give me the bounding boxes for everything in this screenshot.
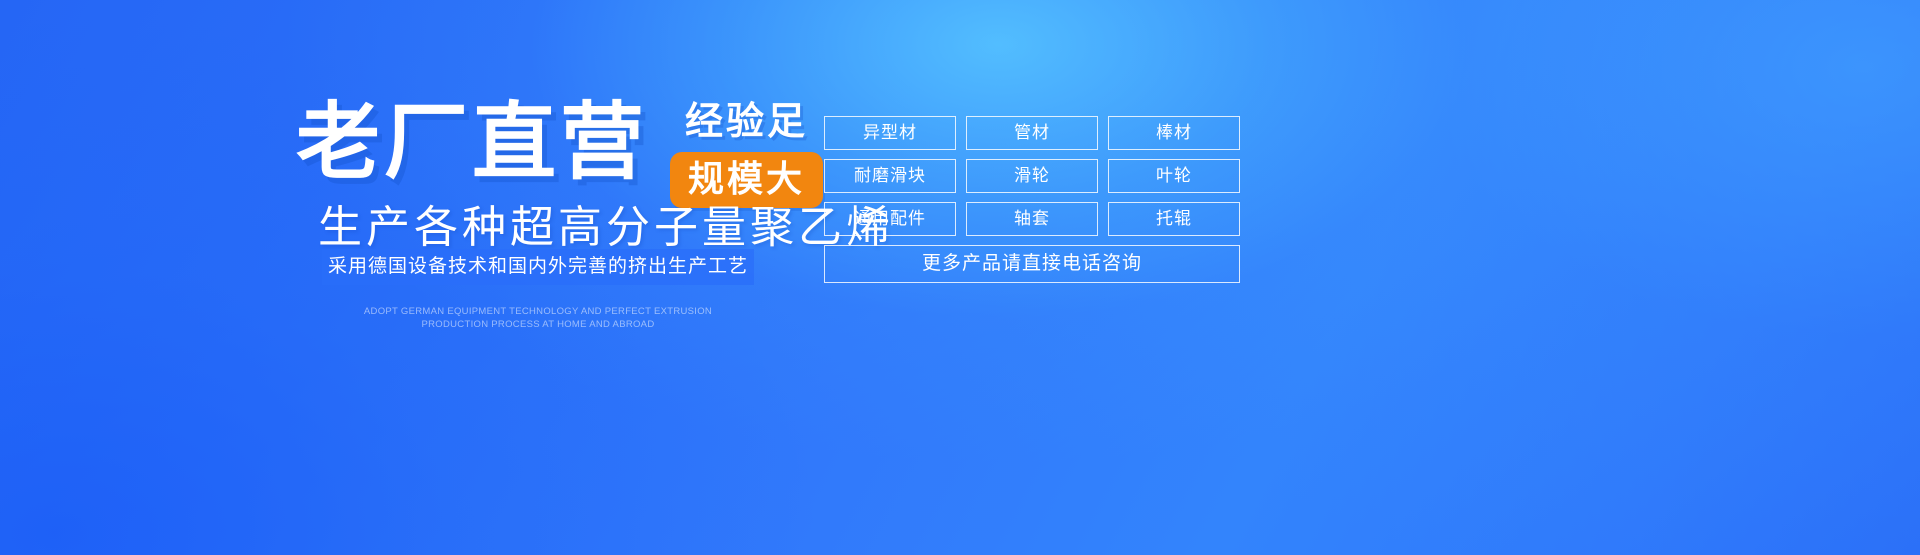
english-caption-line-2: PRODUCTION PROCESS AT HOME AND ABROAD [322, 318, 754, 331]
more-products-call-label: 更多产品请直接电话咨询 [922, 253, 1142, 275]
tagline-text: 采用德国设备技术和国内外完善的挤出生产工艺 [328, 256, 748, 278]
product-chip-pulley[interactable]: 滑轮 [966, 159, 1098, 193]
product-chip-general-parts[interactable]: 通用配件 [824, 202, 956, 236]
product-chip-label: 滑轮 [1014, 166, 1050, 186]
english-caption-line-1: ADOPT GERMAN EQUIPMENT TECHNOLOGY AND PE… [322, 305, 754, 318]
product-chip-label: 耐磨滑块 [854, 166, 926, 186]
product-chip-label: 异型材 [863, 123, 917, 143]
product-chip-label: 通用配件 [854, 209, 926, 229]
page-title: 老厂直营 [296, 94, 648, 190]
product-chip-label: 轴套 [1014, 209, 1050, 229]
product-chip-label: 叶轮 [1156, 166, 1192, 186]
product-chip-impeller[interactable]: 叶轮 [1108, 159, 1240, 193]
english-caption: ADOPT GERMAN EQUIPMENT TECHNOLOGY AND PE… [322, 305, 754, 331]
product-chip-idler-roller[interactable]: 托辊 [1108, 202, 1240, 236]
product-chip-label: 托辊 [1156, 209, 1192, 229]
more-products-call-button[interactable]: 更多产品请直接电话咨询 [824, 245, 1240, 283]
headline-group: 老厂直营 经验足 规模大 [296, 94, 823, 208]
product-chip-label: 管材 [1014, 123, 1050, 143]
product-chip-rod[interactable]: 棒材 [1108, 116, 1240, 150]
product-chip-bushing[interactable]: 轴套 [966, 202, 1098, 236]
tagline-bar: 采用德国设备技术和国内外完善的挤出生产工艺 [322, 249, 754, 285]
product-chip-pipe[interactable]: 管材 [966, 116, 1098, 150]
product-chip-label: 棒材 [1156, 123, 1192, 143]
product-row-3: 通用配件 轴套 托辊 [824, 202, 1240, 236]
badge-experience: 经验足 [685, 100, 808, 144]
product-category-panel: 异型材 管材 棒材 耐磨滑块 滑轮 叶轮 通用配件 [824, 116, 1240, 283]
promo-banner: 老厂直营 经验足 规模大 生产各种超高分子量聚乙烯 采用德国设备技术和国内外完善… [0, 0, 1920, 555]
headline-badge-group: 经验足 规模大 [670, 100, 823, 208]
product-chip-profile[interactable]: 异型材 [824, 116, 956, 150]
subheadline: 生产各种超高分子量聚乙烯 [318, 200, 894, 256]
product-chip-wear-slider[interactable]: 耐磨滑块 [824, 159, 956, 193]
product-row-2: 耐磨滑块 滑轮 叶轮 [824, 159, 1240, 193]
product-row-1: 异型材 管材 棒材 [824, 116, 1240, 150]
